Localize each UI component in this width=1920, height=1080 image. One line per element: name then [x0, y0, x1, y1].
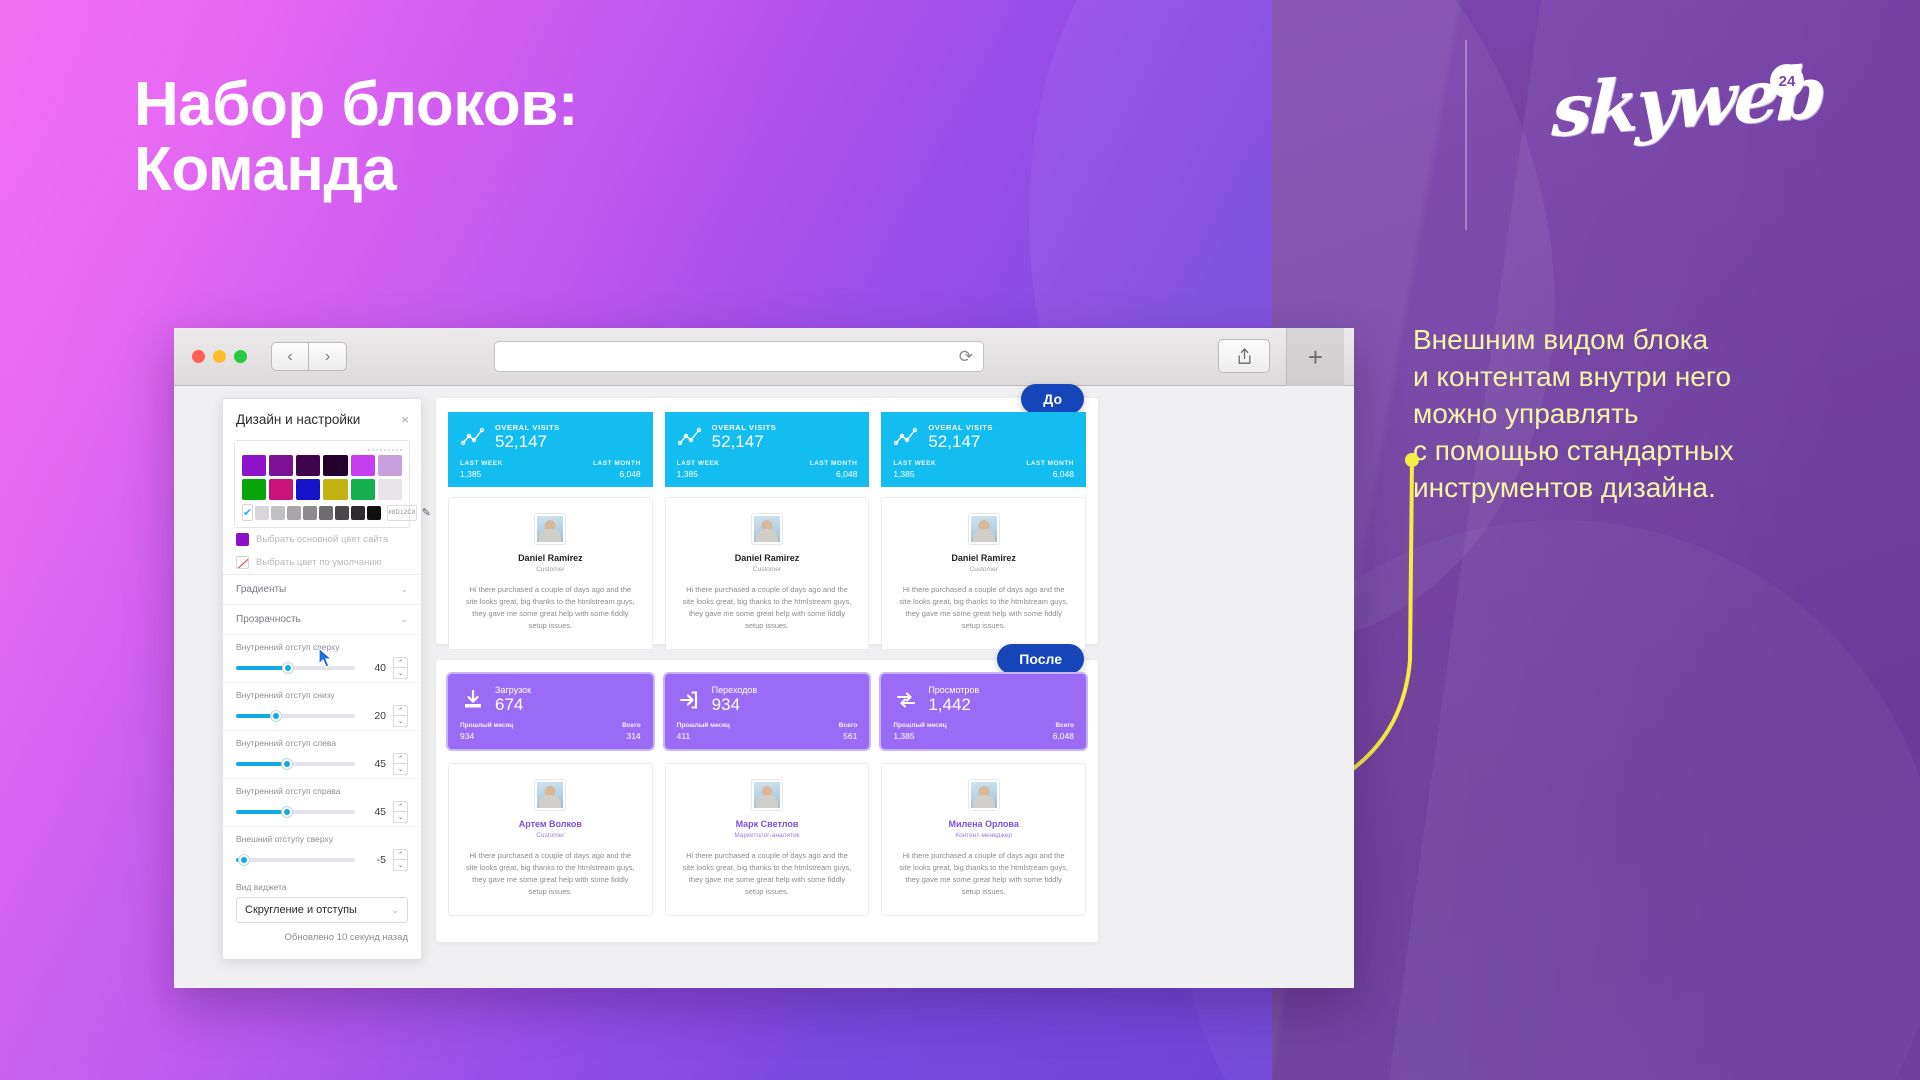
slider-block-2: Внутренний отступ слева45⌃⌄	[223, 730, 421, 778]
stepper-up-icon[interactable]: ⌃	[393, 753, 408, 764]
stat-card-before-0: OVERAL VISITS52,147LAST WEEK1,385LAST MO…	[448, 412, 653, 487]
slider-track-4[interactable]	[236, 858, 355, 862]
reload-icon[interactable]: ⟳	[959, 347, 973, 367]
person-role-after-2: Контент-менеджер	[896, 832, 1071, 839]
person-name-after-0: Артем Волков	[463, 819, 638, 829]
after-section-wrap: После Загрузок674Прошлый месяц934Всего31…	[436, 660, 1098, 942]
slider-knob-3[interactable]	[282, 807, 292, 817]
window-traffic-lights	[192, 350, 247, 363]
color-swatch-r2-3[interactable]	[323, 479, 347, 500]
stat-value-after-2: 1,442	[928, 695, 979, 715]
stepper-up-icon[interactable]: ⌃	[393, 801, 408, 812]
main-color-chip-icon	[236, 533, 249, 546]
person-name-after-2: Милена Орлова	[896, 819, 1071, 829]
selected-swatch-check[interactable]: ✔	[242, 504, 253, 521]
stat-card-before-2: OVERAL VISITS52,147LAST WEEK1,385LAST MO…	[881, 412, 1086, 487]
stat-name-after-0: Загрузок	[495, 685, 531, 695]
slider-stepper-4[interactable]: ⌃⌄	[393, 849, 408, 871]
stat-v1-after-2: 1,385	[893, 731, 946, 741]
stepper-up-icon[interactable]: ⌃	[393, 705, 408, 716]
minimize-window-icon[interactable]	[213, 350, 226, 363]
page-content: До OVERAL VISITS52,147LAST WEEK1,385LAST…	[436, 398, 1098, 942]
stat-v1-after-1: 411	[677, 731, 730, 741]
stat-k2-after-0: Всего	[622, 722, 641, 729]
before-section: OVERAL VISITS52,147LAST WEEK1,385LAST MO…	[436, 398, 1098, 644]
slider-label-3: Внутренний отступ справа	[236, 786, 408, 796]
person-text-before-2: Hi there purchased a couple of days ago …	[896, 584, 1071, 633]
stat-k1-before-0: LAST WEEK	[460, 460, 503, 467]
person-role-before-0: Customer	[463, 566, 638, 573]
person-role-before-2: Customer	[896, 566, 1071, 573]
widget-view-select-block: Вид виджета Скругление и отступы ⌄	[223, 874, 421, 923]
color-swatch-r1-1[interactable]	[269, 455, 293, 476]
stepper-down-icon[interactable]: ⌄	[393, 668, 408, 679]
swatch-row-1	[242, 455, 402, 476]
address-bar[interactable]: ⟳	[494, 341, 984, 372]
logo-badge-24: 24	[1770, 64, 1804, 98]
close-icon[interactable]: ×	[401, 412, 409, 427]
slider-list: Внутренний отступ сверху40⌃⌄Внутренний о…	[223, 634, 421, 874]
person-text-before-1: Hi there purchased a couple of days ago …	[680, 584, 855, 633]
widget-view-select[interactable]: Скругление и отступы ⌄	[236, 897, 408, 923]
slider-knob-1[interactable]	[271, 711, 281, 721]
slider-value-0: 40	[362, 662, 386, 674]
avatar	[969, 514, 999, 544]
stat-metric-right-before-1: LAST MONTH6,048	[810, 460, 858, 479]
slider-block-4: Внешний отступу сверху-5⌃⌄	[223, 826, 421, 874]
no-color-chip-icon	[236, 556, 249, 569]
color-swatch-r2-2[interactable]	[296, 479, 320, 500]
line-chart-icon	[677, 424, 703, 450]
accordion-transparency[interactable]: Прозрачность ⌄	[223, 604, 421, 634]
avatar	[752, 780, 782, 810]
color-swatch-r1-3[interactable]	[323, 455, 347, 476]
person-role-after-1: Маркетолог-аналитик	[680, 832, 855, 839]
stat-v1-after-0: 934	[460, 731, 513, 741]
chevron-down-icon: ⌄	[391, 905, 399, 916]
before-stat-grid: OVERAL VISITS52,147LAST WEEK1,385LAST MO…	[448, 412, 1086, 487]
avatar	[752, 514, 782, 544]
slider-value-3: 45	[362, 806, 386, 818]
line-chart-icon	[460, 424, 486, 450]
stat-card-after-1: Переходов934Прошлый месяц411Всего561	[665, 674, 870, 749]
maximize-window-icon[interactable]	[234, 350, 247, 363]
color-palette: ✔ #8D12C8 ✎	[234, 440, 410, 528]
accordion-gradients-label: Градиенты	[236, 584, 286, 595]
color-swatch-r1-5[interactable]	[378, 455, 402, 476]
person-text-after-2: Hi there purchased a couple of days ago …	[896, 850, 1071, 899]
stat-metric-left-before-2: LAST WEEK1,385	[893, 460, 936, 479]
gray-swatch-6[interactable]	[351, 506, 365, 520]
slider-track-2[interactable]	[236, 762, 355, 766]
badge-after: После	[997, 644, 1084, 674]
stat-v1-before-2: 1,385	[893, 469, 936, 479]
refresh-loop-icon	[893, 687, 919, 713]
slider-knob-0[interactable]	[283, 663, 293, 673]
stepper-down-icon[interactable]: ⌄	[393, 716, 408, 727]
avatar	[969, 780, 999, 810]
person-text-after-0: Hi there purchased a couple of days ago …	[463, 850, 638, 899]
stepper-down-icon[interactable]: ⌄	[393, 812, 408, 823]
slider-stepper-3[interactable]: ⌃⌄	[393, 801, 408, 823]
gray-swatch-0[interactable]	[255, 506, 269, 520]
option-default-color-label: Выбрать цвет по умолчанию	[256, 557, 382, 568]
slider-knob-4[interactable]	[239, 855, 249, 865]
after-section: Загрузок674Прошлый месяц934Всего314Перех…	[436, 660, 1098, 942]
browser-viewport: Дизайн и настройки × ✔ #8D12C8 ✎ Выбрат	[174, 386, 1354, 988]
stat-value-after-0: 674	[495, 695, 531, 715]
gray-scale-row: ✔ #8D12C8 ✎	[242, 504, 402, 521]
accordion-transparency-label: Прозрачность	[236, 614, 301, 625]
stat-v2-before-2: 6,048	[1026, 469, 1074, 479]
slider-label-2: Внутренний отступ слева	[236, 738, 408, 748]
badge-before: До	[1021, 384, 1084, 414]
stat-k1-before-2: LAST WEEK	[893, 460, 936, 467]
accordion-gradients[interactable]: Градиенты ⌄	[223, 574, 421, 604]
new-tab-button[interactable]: +	[1286, 328, 1344, 386]
stat-k2-after-2: Всего	[1053, 722, 1074, 729]
slider-track-1[interactable]	[236, 714, 355, 718]
after-stat-grid: Загрузок674Прошлый месяц934Всего314Перех…	[448, 674, 1086, 749]
option-main-color[interactable]: Выбрать основной цвет сайта	[223, 528, 421, 551]
stat-card-after-0: Загрузок674Прошлый месяц934Всего314	[448, 674, 653, 749]
person-card-after-2: Милена ОрловаКонтент-менеджерHi there pu…	[881, 763, 1086, 916]
person-card-after-1: Марк СветловМаркетолог-аналитикHi there …	[665, 763, 870, 916]
stat-v2-after-1: 561	[839, 731, 858, 741]
stat-k1-after-2: Прошлый месяц	[893, 722, 946, 729]
palette-drag-dots	[242, 449, 402, 451]
mouse-cursor-icon	[318, 647, 334, 669]
slider-knob-2[interactable]	[282, 759, 292, 769]
slider-track-0[interactable]	[236, 666, 355, 670]
slider-value-2: 45	[362, 758, 386, 770]
browser-chrome: ‹ › ⟳ +	[174, 328, 1354, 386]
person-card-before-2: Daniel RamirezCustomerHi there purchased…	[881, 497, 1086, 650]
panel-title: Дизайн и настройки	[236, 412, 360, 427]
person-name-before-1: Daniel Ramirez	[680, 553, 855, 563]
chevron-down-icon: ⌄	[400, 584, 408, 595]
panel-header: Дизайн и настройки ×	[223, 399, 421, 438]
stat-metric-right-after-0: Всего314	[622, 722, 641, 741]
stat-name-after-1: Переходов	[712, 685, 758, 695]
person-name-before-2: Daniel Ramirez	[896, 553, 1071, 563]
annotation-text: Внешним видом блока и контентам внутри н…	[1413, 322, 1883, 507]
slider-track-3[interactable]	[236, 810, 355, 814]
stat-k1-after-0: Прошлый месяц	[460, 722, 513, 729]
slider-value-4: -5	[362, 854, 386, 866]
color-swatch-r1-2[interactable]	[296, 455, 320, 476]
share-icon	[1237, 348, 1252, 365]
stat-k1-after-1: Прошлый месяц	[677, 722, 730, 729]
person-name-before-0: Daniel Ramirez	[463, 553, 638, 563]
stat-v2-before-1: 6,048	[810, 469, 858, 479]
slider-block-3: Внутренний отступ справа45⌃⌄	[223, 778, 421, 826]
stat-value-before-0: 52,147	[495, 432, 560, 452]
line-chart-icon	[893, 424, 919, 450]
before-section-wrap: До OVERAL VISITS52,147LAST WEEK1,385LAST…	[436, 398, 1098, 644]
stepper-down-icon[interactable]: ⌄	[393, 860, 408, 871]
download-icon	[460, 687, 486, 713]
page-title: Набор блоков: Команда	[134, 72, 578, 202]
color-swatch-r1-0[interactable]	[242, 455, 266, 476]
share-button[interactable]	[1218, 339, 1270, 373]
gray-swatch-5[interactable]	[335, 506, 349, 520]
color-swatch-r2-0[interactable]	[242, 479, 266, 500]
person-name-after-1: Марк Светлов	[680, 819, 855, 829]
color-swatch-r2-5[interactable]	[378, 479, 402, 500]
stat-v1-before-1: 1,385	[677, 469, 720, 479]
stat-value-after-1: 934	[712, 695, 758, 715]
gray-swatch-1[interactable]	[271, 506, 285, 520]
gray-swatch-2[interactable]	[287, 506, 301, 520]
stat-v2-after-2: 6,048	[1053, 731, 1074, 741]
stat-v1-before-0: 1,385	[460, 469, 503, 479]
option-main-color-label: Выбрать основной цвет сайта	[256, 534, 388, 545]
gray-swatch-3[interactable]	[303, 506, 317, 520]
stat-k2-after-1: Всего	[839, 722, 858, 729]
stat-metric-right-before-0: LAST MONTH6,048	[593, 460, 641, 479]
before-people-grid: Daniel RamirezCustomerHi there purchased…	[448, 497, 1086, 650]
stat-name-before-0: OVERAL VISITS	[495, 423, 560, 432]
stat-card-before-1: OVERAL VISITS52,147LAST WEEK1,385LAST MO…	[665, 412, 870, 487]
login-arrow-icon	[677, 687, 703, 713]
swatch-row-2	[242, 479, 402, 500]
slider-stepper-1[interactable]: ⌃⌄	[393, 705, 408, 727]
stat-k1-before-1: LAST WEEK	[677, 460, 720, 467]
stat-metric-left-after-2: Прошлый месяц1,385	[893, 722, 946, 741]
slider-value-1: 20	[362, 710, 386, 722]
panel-updated-status: Обновлено 10 секунд назад	[223, 923, 421, 943]
stat-v2-after-0: 314	[622, 731, 641, 741]
hex-value-field[interactable]: #8D12C8	[387, 505, 416, 521]
slider-label-4: Внешний отступу сверху	[236, 834, 408, 844]
stat-metric-left-before-0: LAST WEEK1,385	[460, 460, 503, 479]
stat-value-before-1: 52,147	[712, 432, 777, 452]
color-swatch-r2-1[interactable]	[269, 479, 293, 500]
color-swatch-r2-4[interactable]	[351, 479, 375, 500]
stat-metric-left-after-0: Прошлый месяц934	[460, 722, 513, 741]
stat-k2-before-2: LAST MONTH	[1026, 460, 1074, 467]
stepper-down-icon[interactable]: ⌄	[393, 764, 408, 775]
pencil-icon[interactable]: ✎	[422, 506, 431, 519]
browser-window: ‹ › ⟳ + Дизайн и настройки ×	[174, 328, 1354, 988]
avatar	[535, 514, 565, 544]
person-role-after-0: Customer	[463, 832, 638, 839]
close-window-icon[interactable]	[192, 350, 205, 363]
stat-card-after-2: Просмотров1,442Прошлый месяц1,385Всего6,…	[881, 674, 1086, 749]
stat-metric-right-before-2: LAST MONTH6,048	[1026, 460, 1074, 479]
slider-stepper-2[interactable]: ⌃⌄	[393, 753, 408, 775]
stat-value-before-2: 52,147	[928, 432, 993, 452]
stat-name-before-2: OVERAL VISITS	[928, 423, 993, 432]
back-button[interactable]: ‹	[271, 342, 309, 371]
stat-metric-right-after-2: Всего6,048	[1053, 722, 1074, 741]
design-settings-panel: Дизайн и настройки × ✔ #8D12C8 ✎ Выбрат	[222, 398, 422, 960]
stat-k2-before-1: LAST MONTH	[810, 460, 858, 467]
stat-metric-left-before-1: LAST WEEK1,385	[677, 460, 720, 479]
stat-name-after-2: Просмотров	[928, 685, 979, 695]
chevron-down-icon: ⌄	[400, 614, 408, 625]
stat-metric-left-after-1: Прошлый месяц411	[677, 722, 730, 741]
person-text-before-0: Hi there purchased a couple of days ago …	[463, 584, 638, 633]
person-card-before-1: Daniel RamirezCustomerHi there purchased…	[665, 497, 870, 650]
person-card-after-0: Артем ВолковCustomerHi there purchased a…	[448, 763, 653, 916]
after-people-grid: Артем ВолковCustomerHi there purchased a…	[448, 763, 1086, 916]
stat-v2-before-0: 6,048	[593, 469, 641, 479]
person-card-before-0: Daniel RamirezCustomerHi there purchased…	[448, 497, 653, 650]
widget-view-value: Скругление и отступы	[245, 904, 357, 916]
stat-k2-before-0: LAST MONTH	[593, 460, 641, 467]
slider-block-1: Внутренний отступ снизу20⌃⌄	[223, 682, 421, 730]
stat-name-before-1: OVERAL VISITS	[712, 423, 777, 432]
gray-swatch-7[interactable]	[367, 506, 381, 520]
stepper-up-icon[interactable]: ⌃	[393, 849, 408, 860]
widget-view-label: Вид виджета	[236, 882, 408, 892]
person-text-after-1: Hi there purchased a couple of days ago …	[680, 850, 855, 899]
avatar	[535, 780, 565, 810]
slider-label-1: Внутренний отступ снизу	[236, 690, 408, 700]
logo-divider	[1465, 40, 1467, 230]
option-default-color[interactable]: Выбрать цвет по умолчанию	[223, 551, 421, 574]
navigation-buttons: ‹ ›	[271, 342, 347, 371]
person-role-before-1: Customer	[680, 566, 855, 573]
forward-button[interactable]: ›	[309, 342, 347, 371]
slider-stepper-0[interactable]: ⌃⌄	[393, 657, 408, 679]
gray-swatch-4[interactable]	[319, 506, 333, 520]
logo: skyweb 24	[1552, 62, 1812, 172]
color-swatch-r1-4[interactable]	[351, 455, 375, 476]
stepper-up-icon[interactable]: ⌃	[393, 657, 408, 668]
stat-metric-right-after-1: Всего561	[839, 722, 858, 741]
